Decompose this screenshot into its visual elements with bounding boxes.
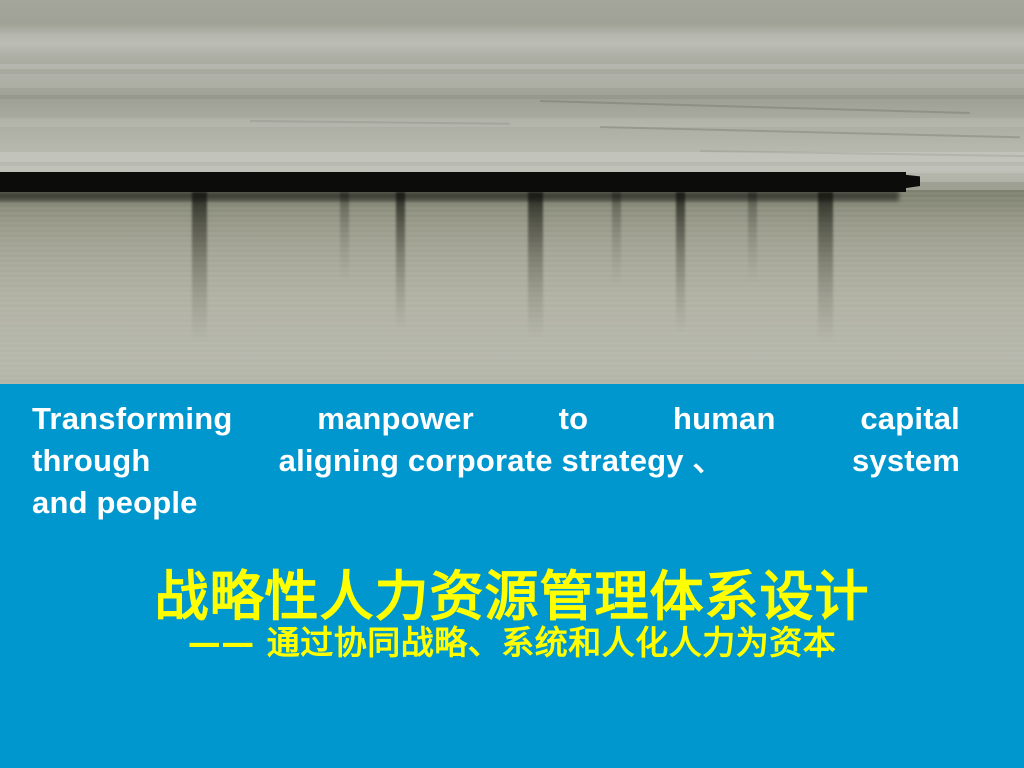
english-word: manpower	[317, 398, 474, 440]
english-word: to	[559, 398, 589, 440]
english-heading-line-1: Transforming manpower to human capital	[32, 398, 960, 440]
haze-band	[0, 95, 1024, 99]
english-word: human	[673, 398, 776, 440]
rower-reflection	[396, 192, 405, 330]
english-phrase: aligning corporate strategy 、	[279, 440, 724, 482]
presentation-slide: Transforming manpower to human capital t…	[0, 0, 1024, 768]
hull-shadow	[0, 191, 899, 201]
english-heading-line-2: through aligning corporate strategy 、 sy…	[32, 440, 960, 482]
english-heading: Transforming manpower to human capital t…	[32, 398, 960, 524]
haze-band	[0, 74, 1024, 88]
english-word: capital	[860, 398, 960, 440]
rowing-crew-silhouette-photo	[0, 0, 1024, 384]
chinese-subtitle: —— 通过协同战略、系统和人化人力为资本	[0, 616, 1024, 664]
english-word: through	[32, 440, 150, 482]
oar-reflection	[748, 192, 757, 284]
english-heading-line-3: and people	[32, 482, 960, 524]
water-ripple-texture	[0, 190, 1024, 384]
rower-reflection	[676, 192, 685, 332]
rower-reflection	[818, 192, 833, 342]
title-band: Transforming manpower to human capital t…	[0, 384, 1024, 768]
oar-reflection	[340, 192, 349, 282]
haze-band	[0, 64, 1024, 69]
english-word: Transforming	[32, 398, 232, 440]
rower-reflection	[192, 192, 207, 342]
boat-hull	[0, 172, 906, 192]
haze-band	[0, 118, 1024, 127]
rower-reflection	[528, 192, 543, 338]
oar-reflection	[612, 192, 621, 288]
english-word: system	[852, 440, 960, 482]
